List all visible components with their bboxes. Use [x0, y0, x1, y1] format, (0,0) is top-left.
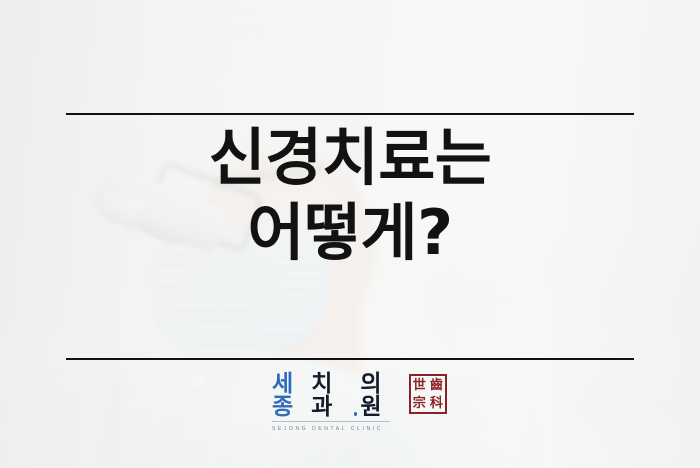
seal-char-bottom-right: 科 [428, 394, 445, 412]
logo-brand-dark-1: 치과 [311, 373, 350, 419]
logo-wordmark: 세종 치과 의원 SEJONG DENTAL CLINIC [272, 373, 406, 432]
seal-char-bottom-left: 宗 [411, 394, 428, 412]
seal-char-top-right: 齒 [428, 376, 445, 394]
text-overlay: 신경치료는 어떻게? 세종 치과 의원 SEJONG DENTAL CLINIC… [0, 0, 700, 468]
bottom-divider [66, 358, 634, 360]
clinic-logo: 세종 치과 의원 SEJONG DENTAL CLINIC 世 齒 宗 科 [272, 373, 447, 415]
dental-clinic-banner: 신경치료는 어떻게? 세종 치과 의원 SEJONG DENTAL CLINIC… [0, 0, 700, 468]
logo-brand-dark-2: 의원 [360, 373, 399, 419]
logo-separator-dot [354, 412, 358, 416]
seal-char-top-left: 世 [411, 376, 428, 394]
headline: 신경치료는 어떻게? [0, 126, 700, 264]
top-divider [66, 113, 634, 115]
logo-brand-text: 세종 치과 의원 [272, 373, 400, 419]
logo-underline-rule [272, 421, 390, 422]
logo-tagline: SEJONG DENTAL CLINIC [272, 426, 383, 432]
headline-line-1: 신경치료는 [0, 126, 700, 189]
headline-line-2: 어떻게? [0, 201, 700, 264]
logo-brand-blue: 세종 [272, 373, 311, 419]
logo-hanja-seal: 世 齒 宗 科 [409, 374, 447, 414]
